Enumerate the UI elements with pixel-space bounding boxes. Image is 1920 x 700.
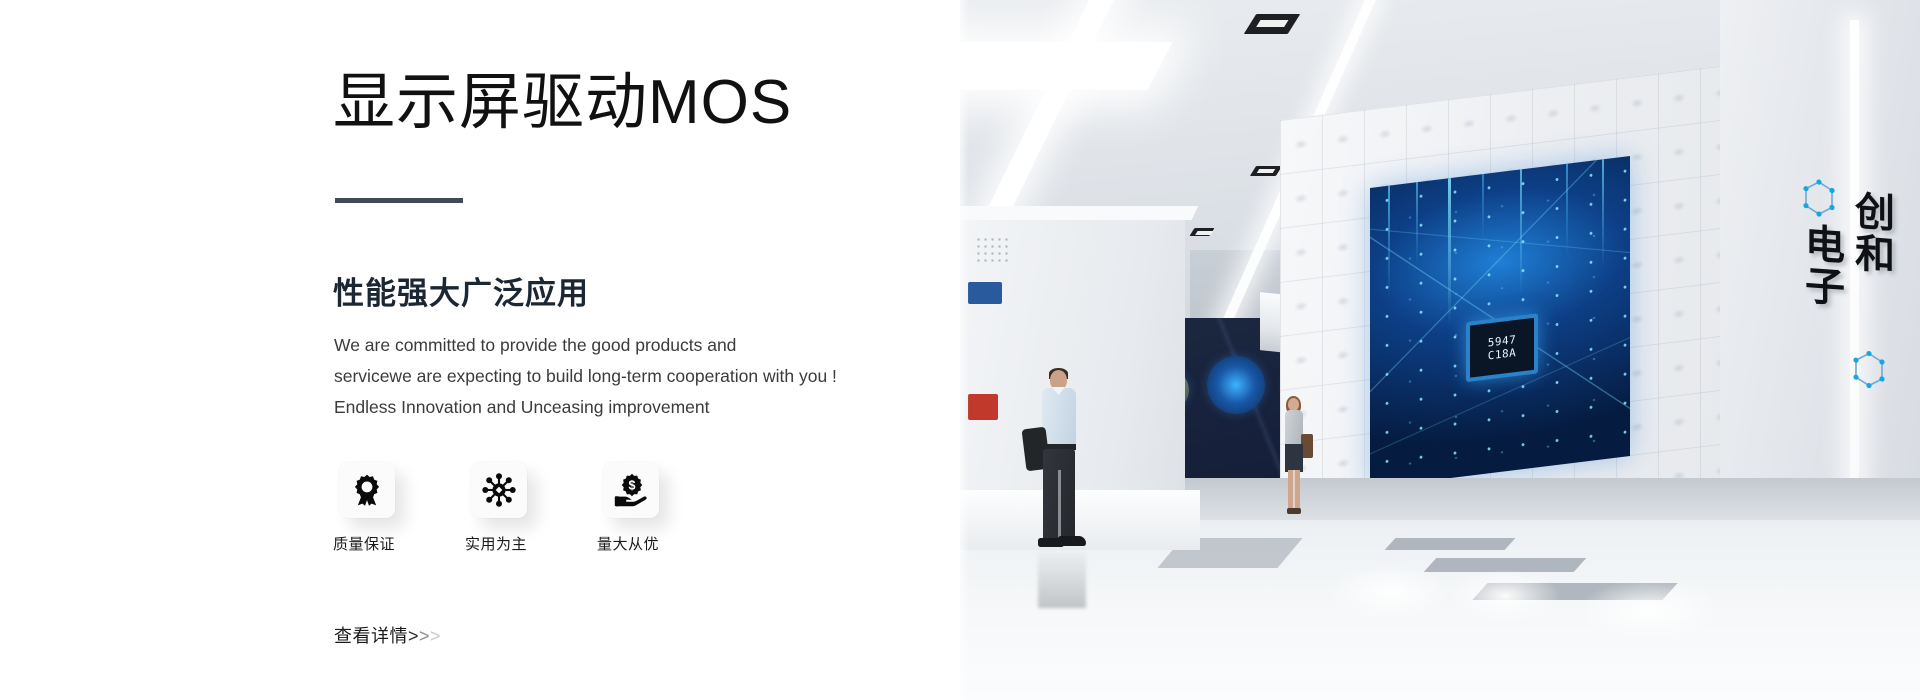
chevron-icon-2: > [419,626,430,646]
network-hub-icon [471,462,527,518]
cta-label: 查看详情 [334,626,408,646]
ceiling-spot-light [1190,228,1215,236]
description-line-1: We are committed to provide the good pro… [334,330,837,361]
wall-medallion-chip [1207,356,1265,414]
title-divider [335,198,463,203]
page-title: 显示屏驱动MOS [333,70,792,135]
signage-column-left: 电子 [1801,222,1840,309]
person-businessman [1028,370,1090,552]
feature-label: 质量保证 [333,533,395,554]
chip-line-2: C18A [1488,346,1517,362]
floor-light-reflection [1330,565,1450,620]
man-shoe-right [1058,536,1086,546]
feature-label: 实用为主 [465,533,527,554]
floor-far-band [1110,478,1920,520]
wall-info-plaque [968,282,1002,304]
showroom-interior-photo: 民企科技 QIYE KEJI GONGSI 5947 C18A [960,0,1920,700]
feature-item-bulk-discount[interactable]: $ 量大从优 [597,462,675,554]
woman-leg-gap [1293,470,1295,510]
pillar-top-edge [960,206,1198,220]
feature-item-quality[interactable]: 质量保证 [333,462,411,554]
feature-list: 质量保证 [333,462,675,554]
person-woman [1276,398,1312,518]
hand-money-icon: $ [603,462,659,518]
wall-red-plaque [968,394,998,420]
feature-item-practical[interactable]: 实用为主 [465,462,543,554]
woman-skirt [1285,444,1303,472]
chevron-icon-1: > [408,626,419,646]
hexagon-molecule-icon [1802,178,1836,218]
man-leg-gap [1058,470,1061,540]
hexagon-molecule-icon [1852,349,1886,389]
svg-text:$: $ [629,479,636,493]
company-signage: 创和 电子 [1772,174,1892,392]
description-line-2: servicewe are expecting to build long-te… [334,361,837,392]
floor-light-reflection [1450,570,1560,622]
subheading: 性能强大广泛应用 [333,268,589,313]
chevron-icon-3: > [430,626,441,646]
description-paragraph: We are committed to provide the good pro… [334,330,837,423]
description-line-3: Endless Innovation and Unceasing improve… [334,392,837,423]
floor-inlay-strip [1385,538,1516,550]
floor-light-reflection [1580,580,1720,640]
wall-dot-pattern [975,236,1011,264]
woman-shoes [1287,508,1301,514]
video-wall-chip-graphic: 5947 C18A [1466,313,1538,382]
feature-label: 量大从优 [597,533,659,554]
man-shirt [1042,388,1076,446]
award-ribbon-icon [339,462,395,518]
signage-column-right: 创和 [1851,189,1890,276]
view-details-link[interactable]: 查看详情>>> [334,622,441,648]
man-floor-reflection [1038,548,1086,608]
hero-banner: 显示屏驱动MOS 性能强大广泛应用 We are committed to pr… [0,0,1920,700]
blue-led-video-wall: 5947 C18A [1370,156,1630,488]
text-panel: 显示屏驱动MOS 性能强大广泛应用 We are committed to pr… [0,0,960,700]
